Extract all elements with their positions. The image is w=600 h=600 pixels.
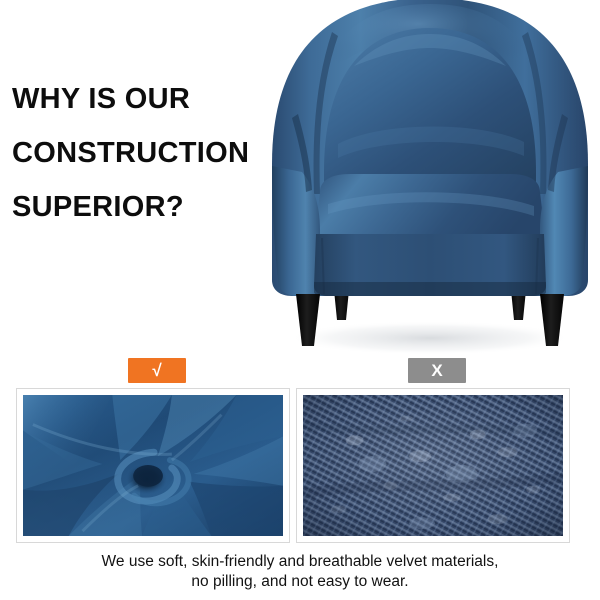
chair-product-photo [258,0,600,360]
fabric-comparison-row: √ [0,356,600,546]
headline-line-2: CONSTRUCTION [12,126,282,180]
velvet-swatch-frame [16,388,290,543]
cross-icon: X [408,358,466,383]
comparison-column-good: √ [16,356,292,546]
denim-swatch-frame [296,388,570,543]
caption-line-2: no pilling, and not easy to wear. [0,572,600,592]
headline-line-3: SUPERIOR? [12,180,282,234]
smooth-velvet-fabric-swatch [23,395,283,536]
headline-line-1: WHY IS OUR [12,72,282,126]
coarse-pilled-denim-fabric-swatch [303,395,563,536]
caption-line-1: We use soft, skin-friendly and breathabl… [0,552,600,572]
headline: WHY IS OUR CONSTRUCTION SUPERIOR? [12,72,282,234]
comparison-column-bad: X [296,356,572,546]
check-icon: √ [128,358,186,383]
product-marketing-image: WHY IS OUR CONSTRUCTION SUPERIOR? √ [0,0,600,600]
caption: We use soft, skin-friendly and breathabl… [0,552,600,592]
